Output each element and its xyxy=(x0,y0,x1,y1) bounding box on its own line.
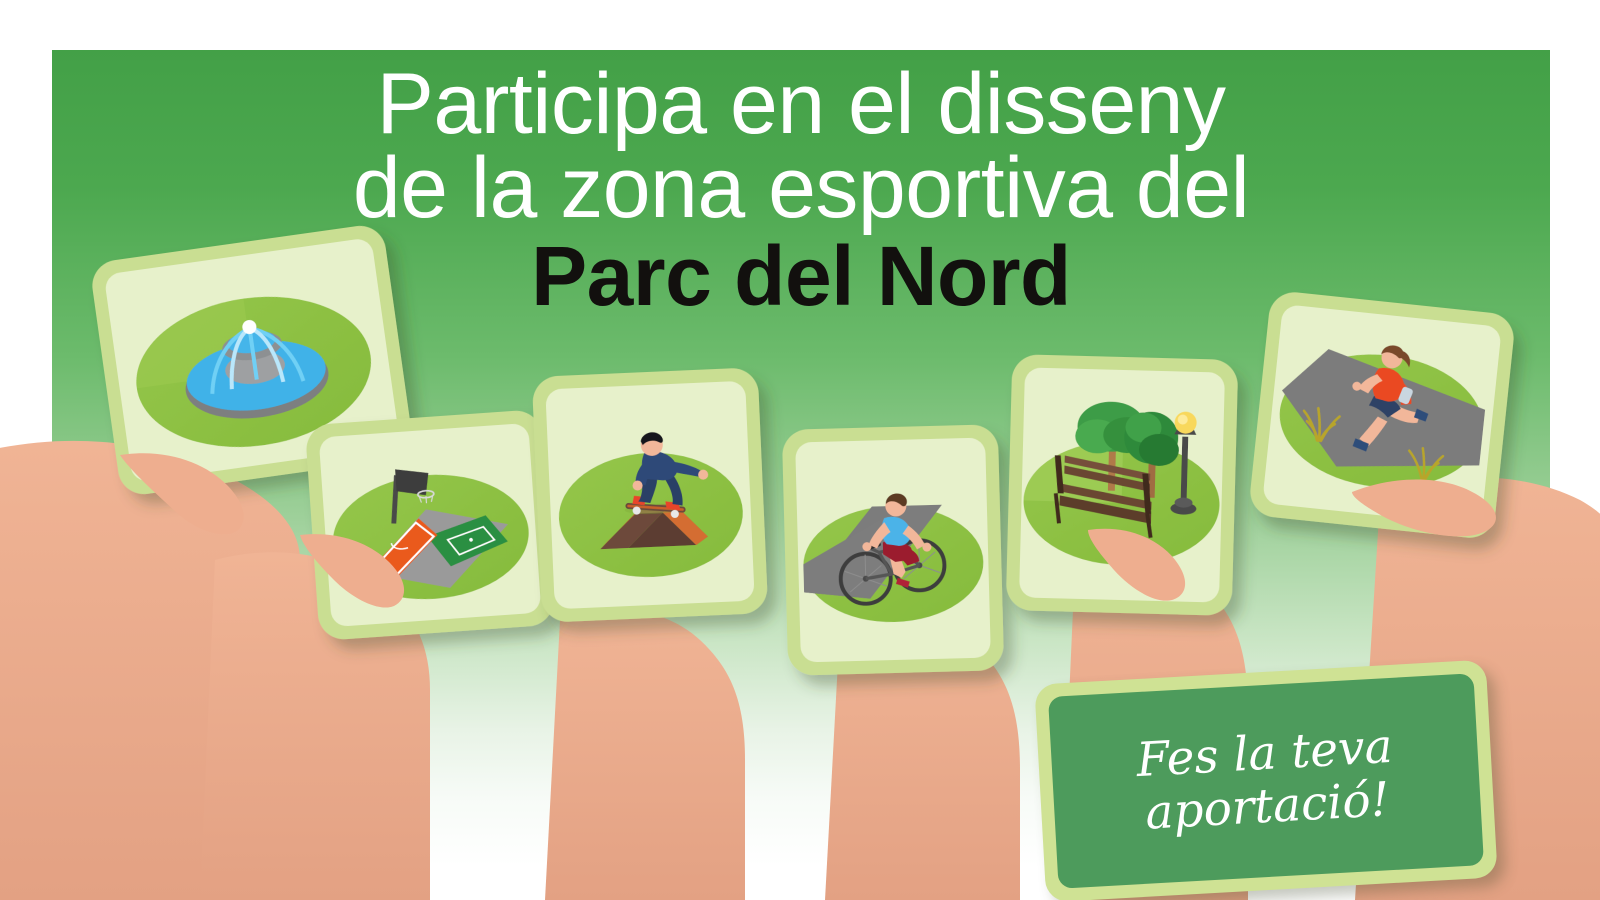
card-court[interactable] xyxy=(305,409,555,641)
card-skate[interactable] xyxy=(532,367,769,623)
card-bike[interactable] xyxy=(782,424,1004,676)
poster-canvas: Participa en el disseny de la zona espor… xyxy=(0,0,1600,900)
footer-logos: Ajuntament de Sabadell Hi col·labora: Di… xyxy=(0,780,1600,880)
